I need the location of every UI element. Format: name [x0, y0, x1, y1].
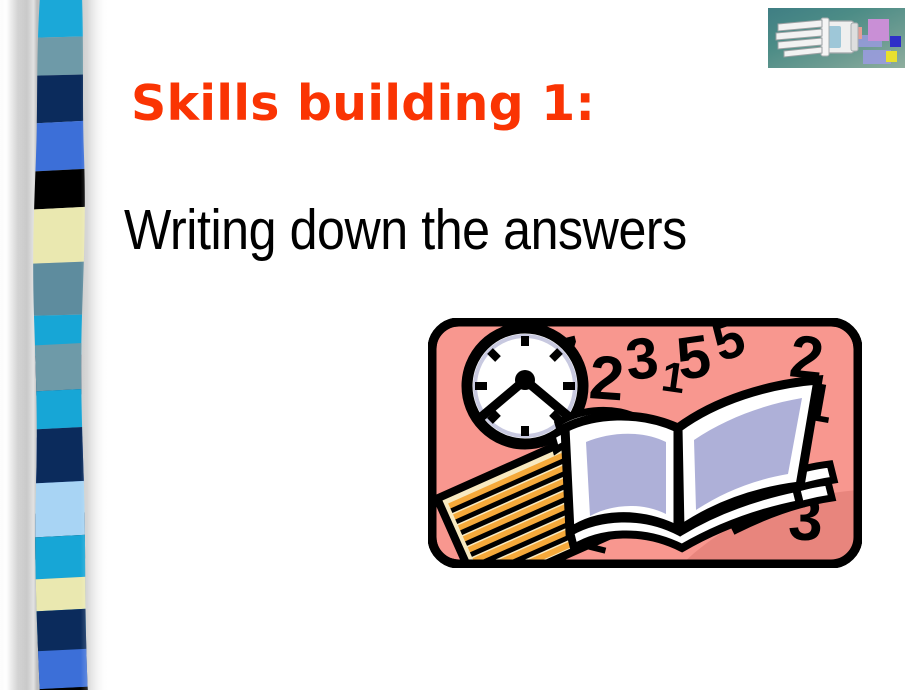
- decorative-stripe-border: [22, 0, 96, 690]
- book-text-block-left: [586, 434, 666, 516]
- slide-canvas: Skills building 1: Writing down the answ…: [0, 0, 920, 690]
- page-subtitle: Writing down the answers: [124, 202, 775, 259]
- publisher-logo: [768, 8, 905, 68]
- stripe-group-lower: [22, 342, 96, 690]
- page-title: Skills building 1:: [131, 78, 791, 129]
- study-clipart: 7 2 3 1 5 5 2 1 5 1 3: [428, 318, 862, 568]
- svg-text:2: 2: [587, 343, 626, 414]
- svg-text:3: 3: [623, 325, 662, 393]
